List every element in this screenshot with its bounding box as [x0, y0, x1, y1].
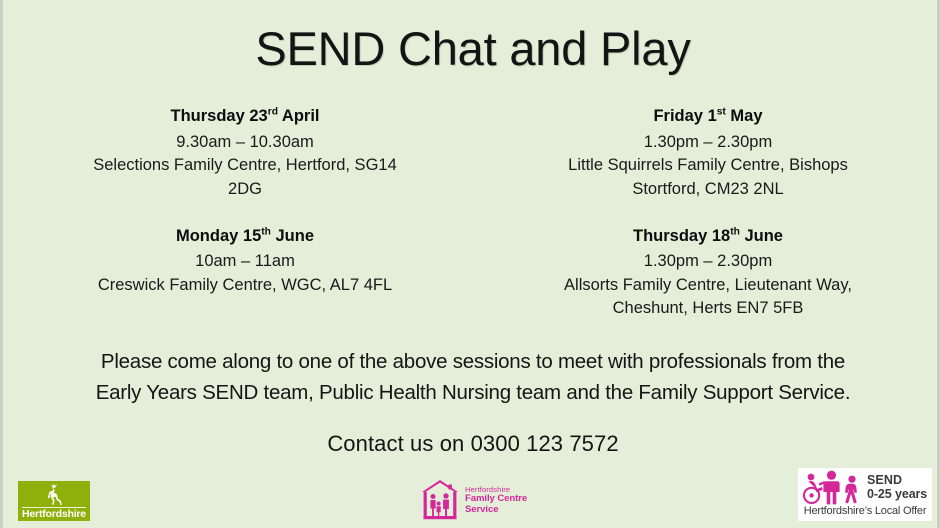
session-card: Monday 15th June 10am – 11am Creswick Fa…	[3, 224, 473, 322]
session-date-suffix: April	[278, 107, 320, 125]
family-house-icon	[420, 479, 460, 523]
family-centre-service-logo: Hertfordshire Family Centre Service	[420, 478, 526, 523]
session-date-prefix: Thursday 23	[171, 107, 268, 125]
family-centre-service-text: Hertfordshire Family Centre Service	[465, 486, 527, 515]
hertfordshire-logo: Hertfordshire	[18, 481, 90, 521]
send-figures-icon	[801, 469, 867, 505]
session-time: 1.30pm – 2.30pm	[529, 249, 887, 274]
send-logo-text: SEND 0-25 years	[867, 473, 927, 501]
session-date: Friday 1st May	[529, 104, 887, 130]
session-time: 1.30pm – 2.30pm	[529, 130, 887, 155]
session-time: 10am – 11am	[65, 249, 425, 274]
session-date-prefix: Friday 1	[653, 107, 716, 125]
session-card: Friday 1st May 1.30pm – 2.30pm Little Sq…	[473, 104, 940, 202]
stag-icon	[39, 482, 69, 507]
send-age-range: 0-25 years	[867, 487, 927, 501]
body-paragraph: Please come along to one of the above se…	[3, 346, 940, 408]
session-venue-line-2: Cheshunt, Herts EN7 5FB	[529, 297, 887, 321]
send-title: SEND	[867, 473, 927, 487]
fcs-line-3: Service	[465, 505, 527, 515]
session-date-suffix: June	[271, 227, 314, 245]
session-venue-line-1: Creswick Family Centre, WGC, AL7 4FL	[65, 274, 425, 298]
send-local-offer-logo: SEND 0-25 years Hertfordshire’s Local Of…	[798, 468, 932, 521]
session-date: Thursday 23rd April	[65, 104, 425, 130]
session-card: Thursday 23rd April 9.30am – 10.30am Sel…	[3, 104, 473, 202]
session-date: Thursday 18th June	[529, 224, 887, 250]
send-logo-row: SEND 0-25 years	[798, 468, 932, 506]
sessions-grid: Thursday 23rd April 9.30am – 10.30am Sel…	[3, 104, 940, 321]
contact-line: Contact us on 0300 123 7572	[3, 431, 940, 457]
hertfordshire-logo-label: Hertfordshire	[18, 508, 90, 520]
session-date-suffix: June	[740, 227, 783, 245]
session-date: Monday 15th June	[65, 224, 425, 250]
session-date-prefix: Monday 15	[176, 227, 261, 245]
session-venue-line-2: 2DG	[65, 178, 425, 202]
session-time: 9.30am – 10.30am	[65, 130, 425, 155]
session-venue-line-1: Little Squirrels Family Centre, Bishops	[529, 154, 887, 178]
session-date-suffix: May	[726, 107, 763, 125]
session-date-ordinal: st	[717, 107, 726, 118]
page-title: SEND Chat and Play	[3, 22, 940, 76]
session-date-ordinal: th	[730, 226, 740, 237]
poster-canvas: SEND Chat and Play Thursday 23rd April 9…	[0, 0, 940, 528]
session-venue-line-2: Stortford, CM23 2NL	[529, 178, 887, 202]
session-venue-line-1: Allsorts Family Centre, Lieutenant Way,	[529, 274, 887, 298]
send-subtitle: Hertfordshire’s Local Offer	[798, 505, 932, 517]
session-date-ordinal: th	[261, 226, 271, 237]
body-line-1: Please come along to one of the above se…	[3, 346, 940, 377]
session-card: Thursday 18th June 1.30pm – 2.30pm Allso…	[473, 224, 940, 322]
session-date-prefix: Thursday 18	[633, 227, 730, 245]
body-line-2: Early Years SEND team, Public Health Nur…	[3, 377, 940, 408]
session-date-ordinal: rd	[268, 107, 278, 118]
session-venue-line-1: Selections Family Centre, Hertford, SG14	[65, 154, 425, 178]
